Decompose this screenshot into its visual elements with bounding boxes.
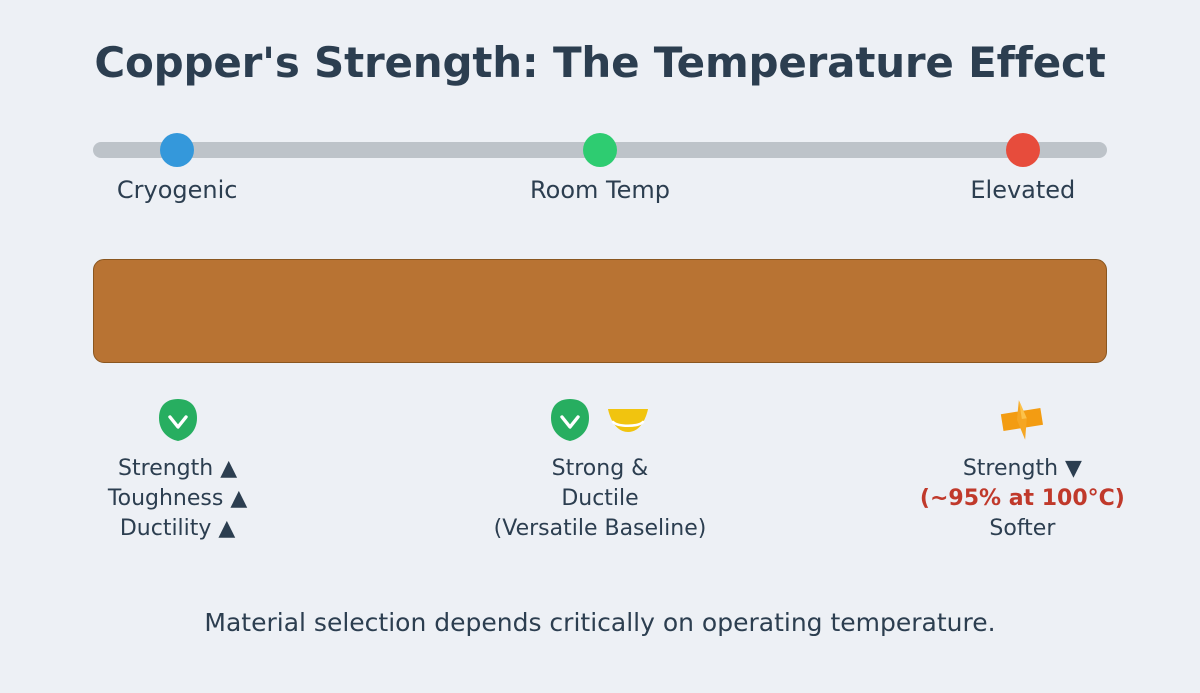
column-room-temp-icons bbox=[430, 392, 770, 448]
infographic-root: Copper's Strength: The Temperature Effec… bbox=[0, 0, 1200, 693]
property-line: Softer bbox=[852, 514, 1192, 544]
slider-dot-cryogenic[interactable] bbox=[160, 133, 194, 167]
property-line-highlight: (~95% at 100°C) bbox=[852, 484, 1192, 514]
property-columns: Strength ▲ Toughness ▲ Ductility ▲ bbox=[0, 392, 1200, 562]
column-room-temp: Strong & Ductile (Versatile Baseline) bbox=[430, 392, 770, 544]
column-cryogenic-lines: Strength ▲ Toughness ▲ Ductility ▲ bbox=[8, 454, 348, 544]
property-line: Ductility ▲ bbox=[8, 514, 348, 544]
property-line: (Versatile Baseline) bbox=[430, 514, 770, 544]
property-line: Strength ▼ bbox=[852, 454, 1192, 484]
slider-dot-elevated[interactable] bbox=[1006, 133, 1040, 167]
slider-dot-room-temp[interactable] bbox=[583, 133, 617, 167]
bowl-icon bbox=[606, 405, 650, 435]
copper-material-bar bbox=[93, 259, 1107, 363]
property-line: Strength ▲ bbox=[8, 454, 348, 484]
property-line: Toughness ▲ bbox=[8, 484, 348, 514]
check-circle-icon bbox=[550, 398, 590, 442]
footer-note: Material selection depends critically on… bbox=[0, 608, 1200, 637]
column-cryogenic: Strength ▲ Toughness ▲ Ductility ▲ bbox=[8, 392, 348, 544]
temperature-slider: Cryogenic Room Temp Elevated bbox=[93, 142, 1107, 160]
column-room-temp-lines: Strong & Ductile (Versatile Baseline) bbox=[430, 454, 770, 544]
column-elevated-icons bbox=[852, 392, 1192, 448]
property-line: Strong & bbox=[430, 454, 770, 484]
column-cryogenic-icons bbox=[8, 392, 348, 448]
check-circle-icon bbox=[158, 398, 198, 442]
slider-label-cryogenic: Cryogenic bbox=[27, 176, 327, 204]
slider-label-room-temp: Room Temp bbox=[450, 176, 750, 204]
slider-label-elevated: Elevated bbox=[873, 176, 1173, 204]
property-line: Ductile bbox=[430, 484, 770, 514]
page-title: Copper's Strength: The Temperature Effec… bbox=[0, 38, 1200, 87]
column-elevated: Strength ▼ (~95% at 100°C) Softer bbox=[852, 392, 1192, 544]
column-elevated-lines: Strength ▼ (~95% at 100°C) Softer bbox=[852, 454, 1192, 544]
caution-icon bbox=[994, 398, 1050, 442]
